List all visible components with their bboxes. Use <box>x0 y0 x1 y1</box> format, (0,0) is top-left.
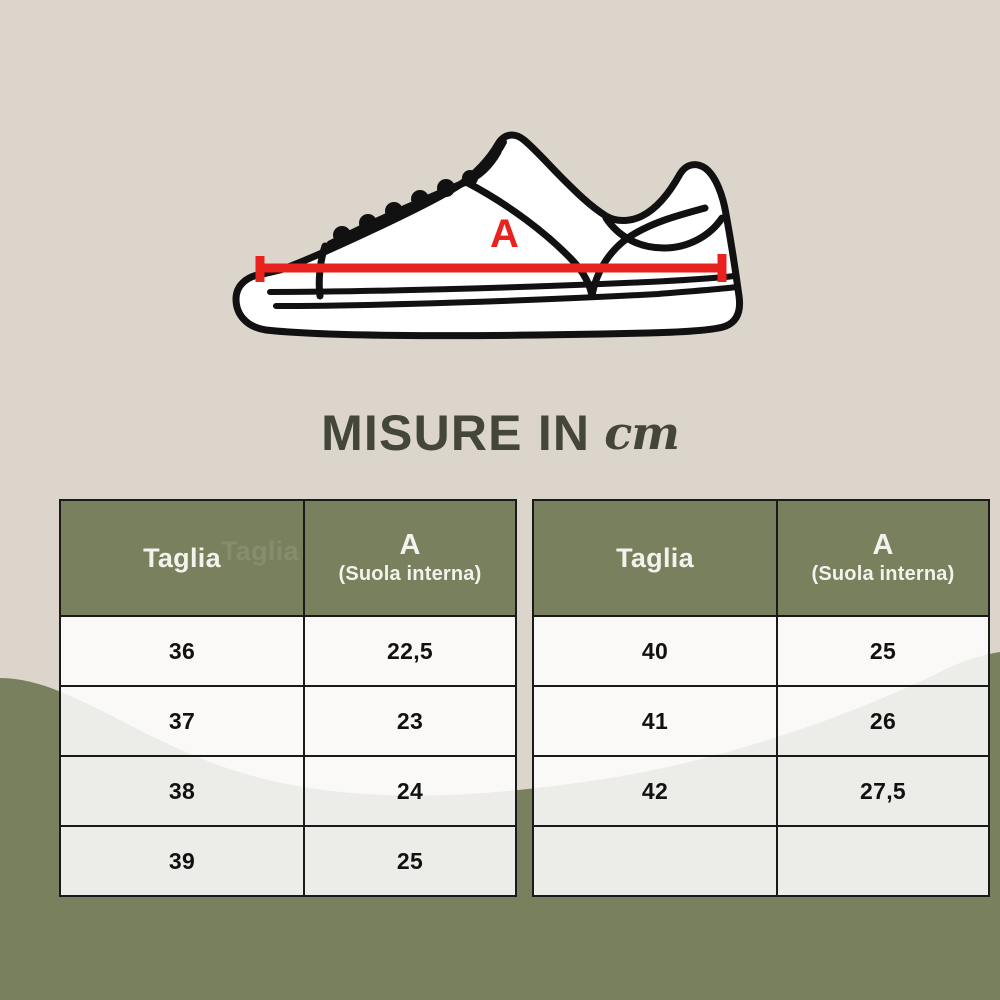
header-measure-sublabel: (Suola interna) <box>811 563 954 586</box>
size-table-left: Taglia A (Suola interna) Taglia 36 22,5 … <box>59 499 517 897</box>
cell-size: 37 <box>61 687 305 755</box>
cell-measure <box>778 827 988 895</box>
cell-measure: 25 <box>778 617 988 685</box>
cell-measure: 23 <box>305 687 515 755</box>
table-row: 36 22,5 <box>61 617 515 687</box>
table-row: 38 24 <box>61 757 515 827</box>
cell-size: 40 <box>534 617 778 685</box>
header-measure-sublabel: (Suola interna) <box>338 563 481 586</box>
table-row: 41 26 <box>534 687 988 757</box>
cell-size <box>534 827 778 895</box>
cell-size: 39 <box>61 827 305 895</box>
chart-title: MISURE INcm <box>0 404 1000 462</box>
table-row <box>534 827 988 895</box>
header-size-label: Taglia <box>616 543 694 574</box>
header-cell-size: Taglia <box>61 501 305 615</box>
cell-size: 42 <box>534 757 778 825</box>
measure-label-a: A <box>490 212 519 257</box>
header-measure-label: A <box>873 530 894 560</box>
header-cell-size: Taglia <box>534 501 778 615</box>
table-row: 37 23 <box>61 687 515 757</box>
table-header-row: Taglia A (Suola interna) Taglia <box>61 501 515 617</box>
cell-measure: 26 <box>778 687 988 755</box>
table-header-row: Taglia A (Suola interna) <box>534 501 988 617</box>
cell-measure: 25 <box>305 827 515 895</box>
header-cell-measure: A (Suola interna) <box>305 501 515 615</box>
cell-measure: 22,5 <box>305 617 515 685</box>
table-row: 39 25 <box>61 827 515 895</box>
table-row: 42 27,5 <box>534 757 988 827</box>
cell-measure: 24 <box>305 757 515 825</box>
size-chart-page: A MISURE INcm Taglia A (Suola interna) T… <box>0 0 1000 1000</box>
size-table-right: Taglia A (Suola interna) 40 25 41 26 42 … <box>532 499 990 897</box>
chart-title-unit: cm <box>604 406 679 460</box>
cell-measure: 27,5 <box>778 757 988 825</box>
sneaker-illustration: A <box>218 96 778 354</box>
table-row: 40 25 <box>534 617 988 687</box>
header-cell-measure: A (Suola interna) <box>778 501 988 615</box>
cell-size: 38 <box>61 757 305 825</box>
header-size-label: Taglia <box>143 543 221 574</box>
cell-size: 36 <box>61 617 305 685</box>
header-measure-label: A <box>400 530 421 560</box>
chart-title-main: MISURE IN <box>321 405 590 461</box>
cell-size: 41 <box>534 687 778 755</box>
